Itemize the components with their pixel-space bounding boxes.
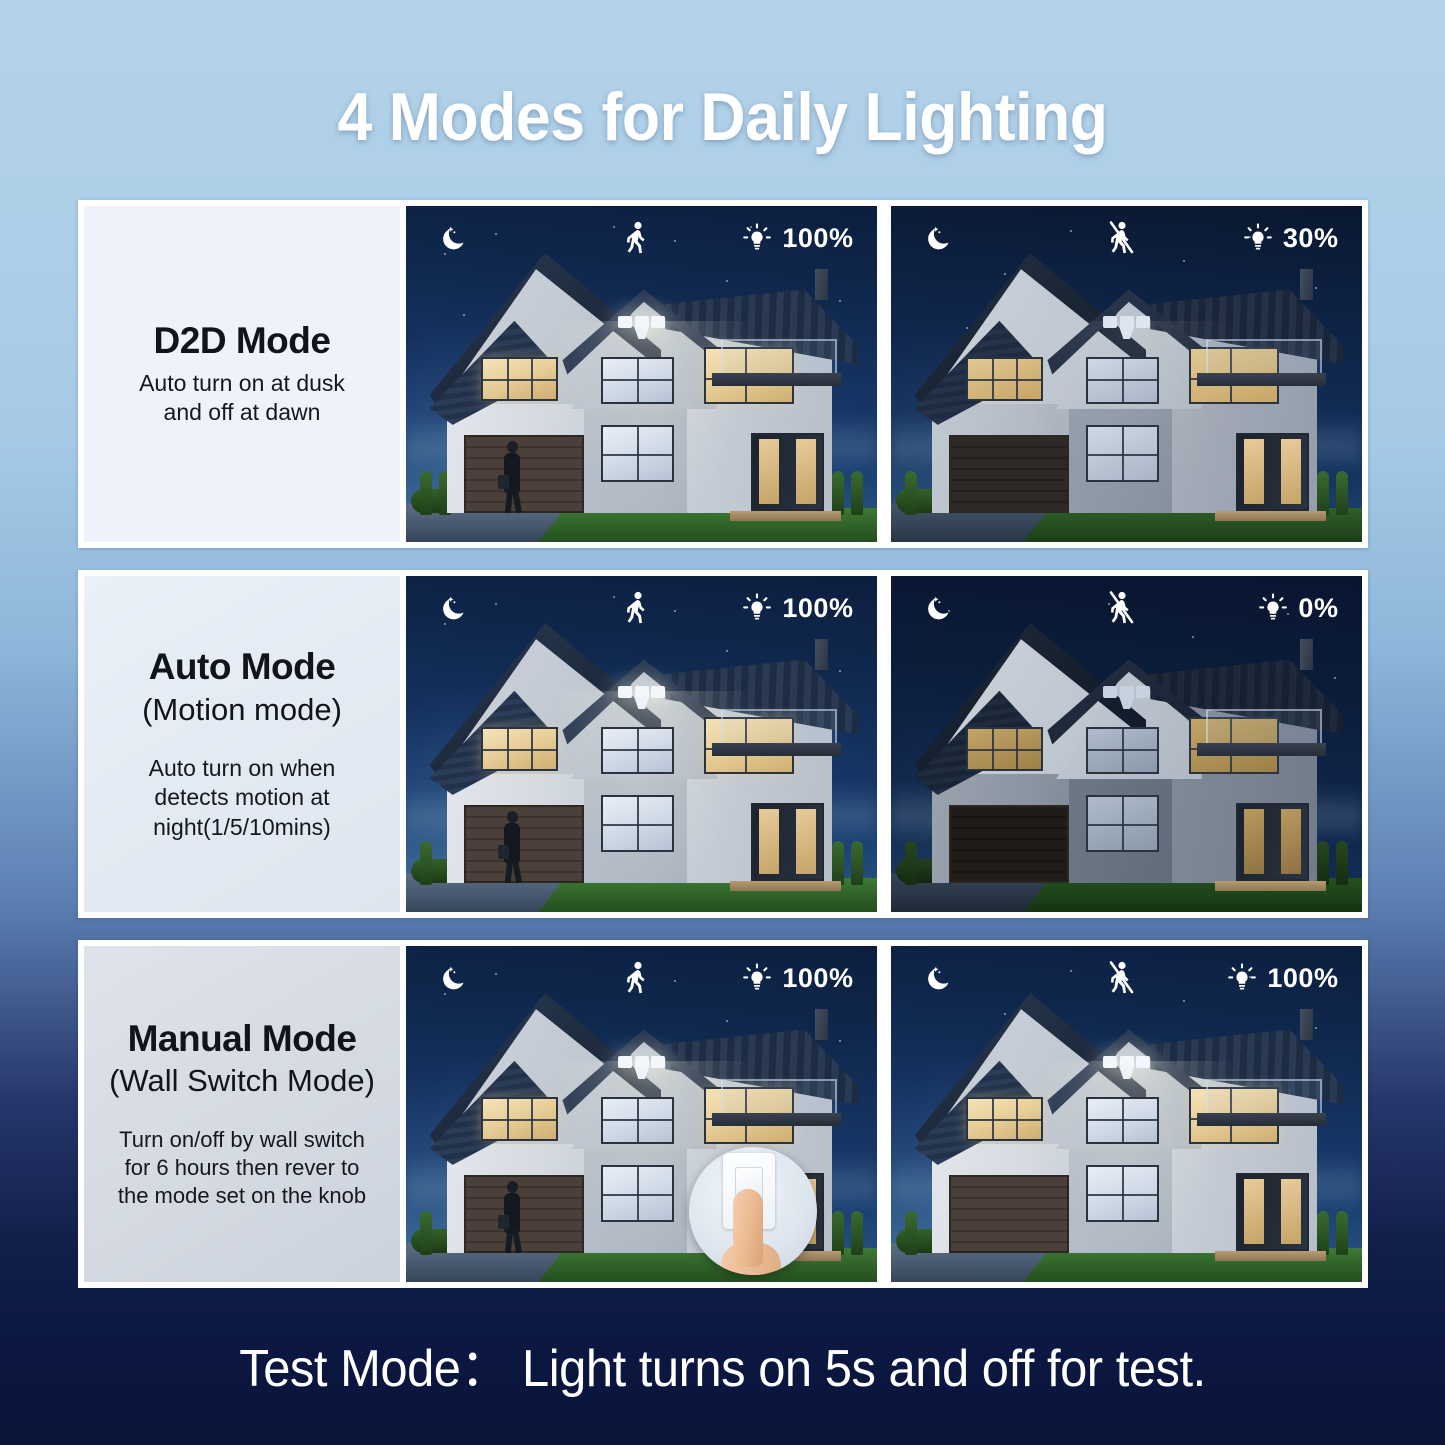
mode-label-panel-auto: Auto Mode (Motion mode) Auto turn on whe…: [84, 576, 400, 912]
balcony-railing: [721, 339, 837, 373]
floodlight-fixture: [618, 1056, 665, 1079]
house: [915, 253, 1344, 513]
chimney: [815, 639, 828, 670]
night-indicator: [439, 962, 471, 994]
walking-person: [500, 441, 526, 513]
walking-person-icon: [622, 221, 652, 255]
light-bulb-icon: [1257, 592, 1289, 624]
entry-stoop: [1215, 1251, 1326, 1261]
moon-icon: [924, 962, 956, 994]
brightness-indicator: 100%: [741, 222, 853, 254]
balcony-railing: [1206, 1079, 1322, 1113]
mode-title: D2D Mode: [154, 320, 331, 363]
chimney: [815, 1009, 828, 1040]
balcony-floor: [1197, 373, 1326, 386]
moon-icon: [439, 592, 471, 624]
front-door: [751, 433, 824, 511]
balcony-floor: [1197, 743, 1326, 756]
brightness-value: 100%: [782, 593, 853, 624]
chimney: [815, 269, 828, 300]
front-door: [751, 803, 824, 881]
test-mode-footer: Test Mode： Light turns on 5s and off for…: [43, 1326, 1401, 1401]
moon-icon: [439, 962, 471, 994]
window-upper-left: [966, 357, 1043, 401]
window-lower-center: [1086, 795, 1159, 852]
motion-indicator: [622, 221, 652, 255]
entry-stoop: [730, 881, 841, 891]
house-scene-d2d-on: 100%: [406, 206, 877, 542]
status-hud: 0%: [891, 580, 1362, 636]
modes-list: D2D Mode Auto turn on at duskand off at …: [78, 200, 1368, 1288]
entry-stoop: [730, 511, 841, 521]
house-scene-manual-nomotion: 100%: [891, 946, 1362, 1282]
brightness-value: 100%: [782, 963, 853, 994]
mode-row-manual: Manual Mode (Wall Switch Mode) Turn on/o…: [78, 940, 1368, 1288]
house: [430, 623, 859, 883]
brightness-indicator: 100%: [741, 592, 853, 624]
house: [915, 623, 1344, 883]
brightness-value: 100%: [1267, 963, 1338, 994]
front-door: [1236, 1173, 1309, 1251]
light-bulb-icon: [1226, 962, 1258, 994]
balcony-railing: [1206, 339, 1322, 373]
window-upper-center: [601, 1097, 674, 1144]
window-upper-center: [601, 727, 674, 774]
mode-description: Auto turn on whendetects motion atnight(…: [149, 754, 336, 842]
chimney: [1300, 1009, 1313, 1040]
garage-door: [949, 435, 1069, 513]
window-upper-left: [481, 727, 558, 771]
wall-switch-magnifier[interactable]: [689, 1147, 817, 1275]
window-lower-center: [1086, 425, 1159, 482]
scene-pair: 100%: [406, 576, 1362, 912]
window-upper-left: [966, 1097, 1043, 1141]
mode-subtitle: (Wall Switch Mode): [109, 1062, 375, 1099]
status-hud: 100%: [406, 210, 877, 266]
motion-indicator: [1106, 591, 1138, 625]
window-upper-center: [601, 357, 674, 404]
mode-label-panel-manual: Manual Mode (Wall Switch Mode) Turn on/o…: [84, 946, 400, 1282]
night-indicator: [924, 222, 956, 254]
balcony-floor: [712, 1113, 841, 1126]
garage-door: [949, 1175, 1069, 1253]
window-upper-left: [481, 1097, 558, 1141]
mode-row-auto: Auto Mode (Motion mode) Auto turn on whe…: [78, 570, 1368, 918]
night-indicator: [924, 962, 956, 994]
night-indicator: [439, 222, 471, 254]
light-bulb-icon: [1242, 222, 1274, 254]
entry-stoop: [1215, 511, 1326, 521]
brightness-value: 0%: [1298, 593, 1338, 624]
balcony-floor: [712, 373, 841, 386]
brightness-indicator: 30%: [1242, 222, 1339, 254]
status-hud: 100%: [891, 950, 1362, 1006]
moon-icon: [439, 222, 471, 254]
motion-indicator: [622, 591, 652, 625]
brightness-indicator: 100%: [741, 962, 853, 994]
no-motion-icon: [1106, 961, 1138, 995]
light-bulb-icon: [741, 592, 773, 624]
night-indicator: [924, 592, 956, 624]
balcony-railing: [721, 709, 837, 743]
floodlight-fixture: [618, 316, 665, 339]
mode-subtitle: (Motion mode): [142, 691, 342, 728]
window-upper-center: [1086, 357, 1159, 404]
scene-pair: 100%: [406, 206, 1362, 542]
floodlight-fixture: [1103, 1056, 1150, 1079]
house-scene-auto-off: 0%: [891, 576, 1362, 912]
front-door: [1236, 433, 1309, 511]
motion-indicator: [1106, 221, 1138, 255]
window-lower-center: [601, 795, 674, 852]
status-hud: 100%: [406, 950, 877, 1006]
window-lower-center: [601, 425, 674, 482]
moon-icon: [924, 222, 956, 254]
brightness-value: 30%: [1283, 223, 1339, 254]
no-motion-icon: [1106, 591, 1138, 625]
mode-description: Turn on/off by wall switchfor 6 hours th…: [118, 1126, 366, 1210]
status-hud: 30%: [891, 210, 1362, 266]
front-door: [1236, 803, 1309, 881]
floodlight-fixture: [1103, 686, 1150, 709]
moon-icon: [924, 592, 956, 624]
brightness-value: 100%: [782, 223, 853, 254]
window-lower-center: [1086, 1165, 1159, 1222]
floodlight-fixture: [618, 686, 665, 709]
page-title: 4 Modes for Daily Lighting: [58, 78, 1387, 156]
motion-indicator: [622, 961, 652, 995]
status-hud: 100%: [406, 580, 877, 636]
brightness-indicator: 0%: [1257, 592, 1338, 624]
walking-person-icon: [622, 961, 652, 995]
chimney: [1300, 269, 1313, 300]
entry-stoop: [1215, 881, 1326, 891]
house-scene-auto-on: 100%: [406, 576, 877, 912]
mode-row-d2d: D2D Mode Auto turn on at duskand off at …: [78, 200, 1368, 548]
window-upper-left: [966, 727, 1043, 771]
balcony-floor: [1197, 1113, 1326, 1126]
scene-pair: 100%: [406, 946, 1362, 1282]
window-upper-left: [481, 357, 558, 401]
window-upper-center: [1086, 727, 1159, 774]
walking-person-icon: [622, 591, 652, 625]
window-upper-center: [1086, 1097, 1159, 1144]
brightness-indicator: 100%: [1226, 962, 1338, 994]
floodlight-fixture: [1103, 316, 1150, 339]
walking-person: [500, 1181, 526, 1253]
light-bulb-icon: [741, 962, 773, 994]
house: [430, 253, 859, 513]
no-motion-icon: [1106, 221, 1138, 255]
garage-door: [949, 805, 1069, 883]
mode-label-panel-d2d: D2D Mode Auto turn on at duskand off at …: [84, 206, 400, 542]
house-scene-d2d-dim: 30%: [891, 206, 1362, 542]
walking-person: [500, 811, 526, 883]
night-indicator: [439, 592, 471, 624]
balcony-floor: [712, 743, 841, 756]
mode-title: Auto Mode: [149, 646, 336, 689]
pointing-finger: [733, 1189, 763, 1267]
house-scene-manual-on: 100%: [406, 946, 877, 1282]
light-bulb-icon: [741, 222, 773, 254]
house: [915, 993, 1344, 1253]
balcony-railing: [1206, 709, 1322, 743]
mode-title: Manual Mode: [128, 1018, 357, 1061]
motion-indicator: [1106, 961, 1138, 995]
mode-description: Auto turn on at duskand off at dawn: [139, 369, 345, 428]
balcony-railing: [721, 1079, 837, 1113]
chimney: [1300, 639, 1313, 670]
window-lower-center: [601, 1165, 674, 1222]
